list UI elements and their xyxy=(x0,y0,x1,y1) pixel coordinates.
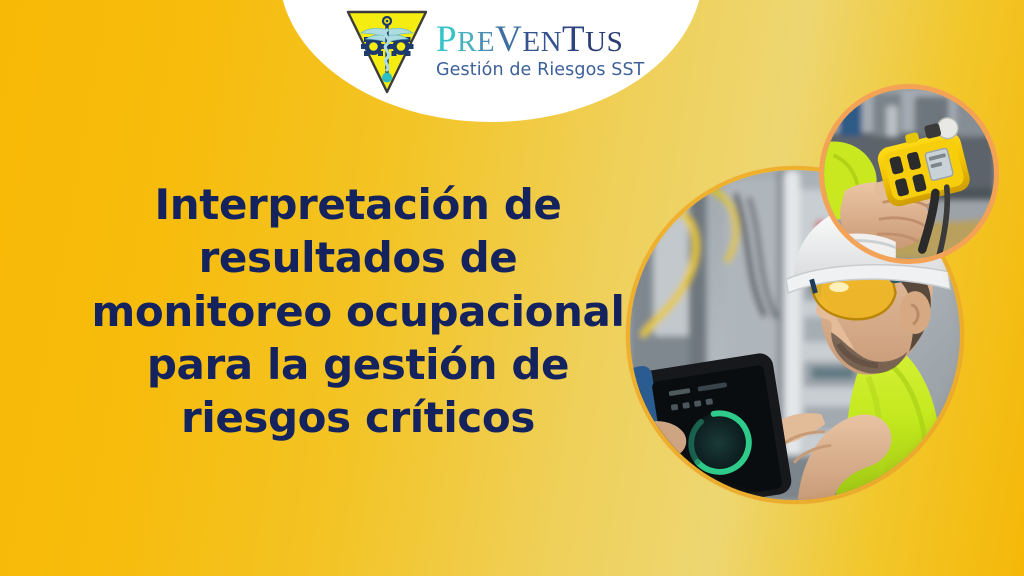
headline-line-1: Interpretación de xyxy=(58,178,658,231)
headline-line-3: monitoreo ocupacional xyxy=(58,285,658,338)
wordmark-letter-r: R xyxy=(457,26,477,58)
hand-holding-gas-detector-photo xyxy=(819,84,999,264)
page-title: Interpretación de resultados de monitore… xyxy=(58,178,658,445)
slide-canvas: PREVENTUS Gestión de Riesgos SST Interpr… xyxy=(0,0,1024,576)
brand-wordmark: PREVENTUS xyxy=(436,22,644,57)
brand-logo-group: PREVENTUS Gestión de Riesgos SST xyxy=(344,4,674,108)
gas-detector-illustration xyxy=(824,89,994,259)
headline-line-5: riesgos críticos xyxy=(58,391,658,444)
headline-line-4: para la gestión de xyxy=(58,338,658,391)
brand-text-block: PREVENTUS Gestión de Riesgos SST xyxy=(436,4,644,80)
preventus-triangle-caduceus-logo xyxy=(344,6,430,98)
brand-tagline: Gestión de Riesgos SST xyxy=(436,60,644,80)
wordmark-letters-us: US xyxy=(585,26,623,58)
wordmark-letter-t: T xyxy=(562,19,585,60)
wordmark-letter-v: V xyxy=(495,19,522,60)
wordmark-letter-e: E xyxy=(477,26,495,58)
headline-line-2: resultados de xyxy=(58,231,658,284)
wordmark-letters-en: EN xyxy=(522,26,562,58)
wordmark-letter-p: P xyxy=(436,19,457,60)
